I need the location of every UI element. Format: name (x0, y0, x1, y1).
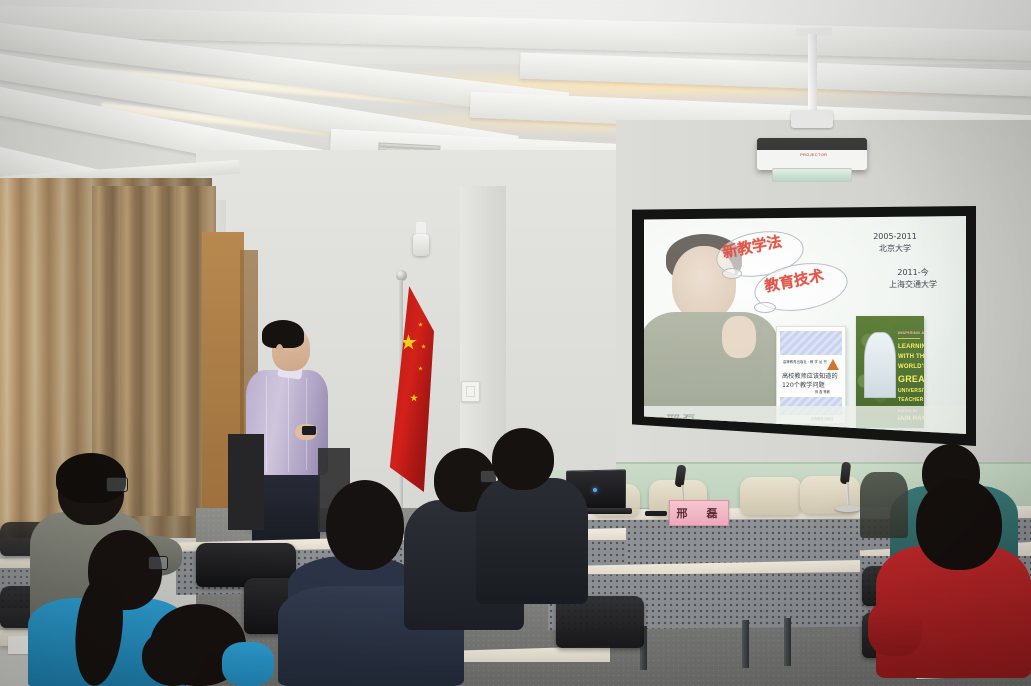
slide-affil1-years: 2005-2011 (852, 232, 938, 243)
book-en-line-5: UNIVERSITY (898, 388, 924, 394)
desk-nameplate-text: 邢 磊 (677, 505, 722, 521)
projector-pole (808, 34, 817, 112)
slide-portrait-hand (722, 316, 756, 358)
audience-front-left-arm (222, 642, 274, 686)
audience-blue-glasses (148, 556, 168, 570)
book-en-line-6: TEACHERS (898, 397, 924, 403)
desk-nameplate: 邢 磊 (669, 500, 729, 526)
panel-chair-2[interactable] (740, 477, 802, 515)
light-switch[interactable] (461, 381, 480, 402)
side-equipment-box (228, 434, 264, 530)
book-en-line-3: WORLD'S (898, 364, 924, 370)
presenter-ear (276, 344, 283, 354)
slide-affil2-org: 上海交通大学 (870, 280, 956, 291)
book-cn-title-2: 120个教学问题 (782, 380, 825, 389)
projector-brand-label: PROJECTOR (800, 152, 827, 157)
presenter-clicker[interactable] (302, 426, 316, 435)
book-en-line-4: GREAT (898, 374, 924, 384)
laptop-power-indicator (593, 488, 597, 492)
desk-leg-3 (784, 618, 791, 666)
desk-remote[interactable] (645, 511, 667, 516)
projector-mount-bracket (791, 110, 833, 128)
book-cn-author: 邢 磊 等著 (815, 389, 830, 394)
audience-red-arm (868, 600, 922, 656)
slide-bubble-tail-2 (754, 302, 776, 313)
flag-star-small-3 (421, 344, 426, 349)
book-cn-band-top (780, 331, 842, 355)
flag-star-small-1 (410, 394, 418, 402)
projection-screen: 新教学法 教育技术 2005-2011 北京大学 2011-今 上海交通大学 高… (644, 216, 966, 434)
book-cn-title-1: 高校教师应该知道的 (782, 371, 838, 380)
audience-front-left-hair (142, 630, 204, 686)
book-cn-emblem (827, 359, 839, 370)
presenter-hair (262, 320, 304, 348)
book-en-window (864, 332, 896, 398)
book-en-rule-1 (898, 338, 920, 339)
slide-affil2-years: 2011-今 (870, 268, 956, 279)
audience-grey-jacket-glasses (106, 477, 128, 492)
flag-star-small-4 (418, 366, 423, 371)
slide-bubble-tail-1 (722, 268, 742, 279)
audience-dark-centre-body (476, 478, 588, 604)
book-en-line-1: LEARNING (898, 344, 924, 350)
lecture-hall-photo: PROJECTOR 新教学法 教育技术 2005-2011 北京大学 2011-… (0, 0, 1031, 686)
audience-hoodie-head (326, 480, 404, 570)
audience-dark-centre-head (492, 428, 554, 490)
presenter-shirt-pleat-1 (266, 376, 267, 472)
desk-leg-2 (742, 620, 749, 668)
security-camera-icon (413, 234, 429, 256)
slide-affil1-org: 北京大学 (852, 244, 938, 255)
book-en-kicker: INSPIRING ACADEMICS (898, 330, 924, 335)
projector-lens (772, 168, 852, 182)
presenter-shirt-pleat-2 (288, 374, 289, 472)
book-en-line-2: WITH THE (898, 354, 924, 360)
flag-star-small-2 (418, 322, 423, 327)
audience-far-right-body (860, 472, 908, 538)
audience-red-head (916, 478, 1002, 570)
microphone-right-base (835, 505, 861, 512)
book-cn-top-label: 高等教育出版社 · 教 学 丛 书 (783, 359, 827, 364)
